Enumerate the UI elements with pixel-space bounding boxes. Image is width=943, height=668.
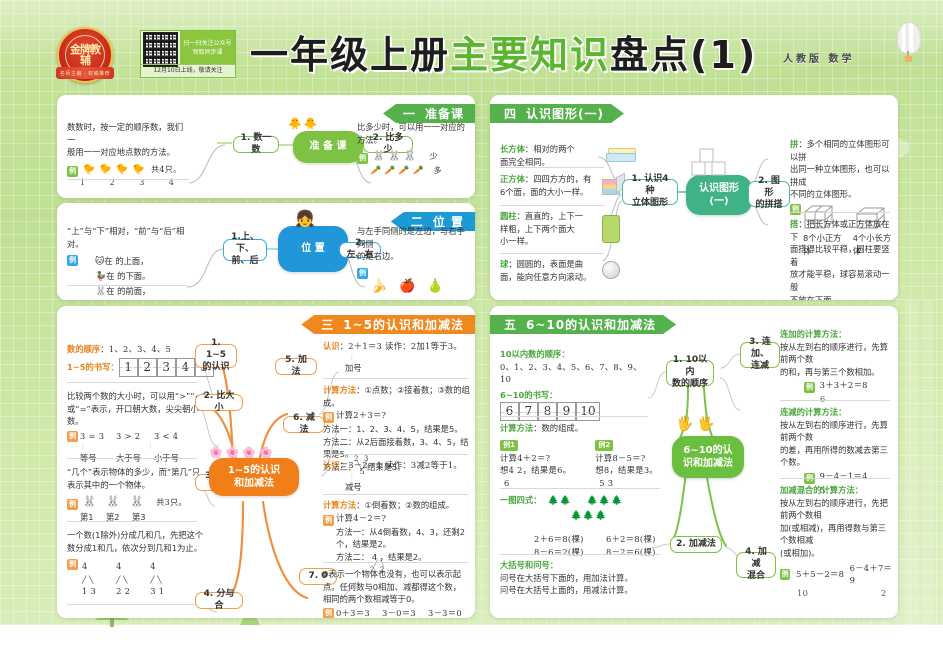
split-left: 1 xyxy=(82,586,88,596)
example-badge: 例 xyxy=(67,255,78,266)
chapter5-four-eq-block: 一图四式： 🌲🌲 🌲🌲🌲 🌲🌲🌲 2＋6＝8(棵) 6＋2＝8(棵) 8－6＝2… xyxy=(500,494,664,559)
know-text: ：2＋1＝3 读作：2加1等于3。 xyxy=(340,341,462,351)
sign-name: 加号 xyxy=(345,362,471,375)
chapter5-compose-block: 计算方法：数的组成。 例1 计算4＋2＝? 想4 2，结果是6。 6 例2 计算… xyxy=(500,422,670,489)
desc: ：四四方方的，有 xyxy=(525,174,591,184)
divider xyxy=(780,400,890,401)
solid-cuboid-text: 长方体：相对的两个 面完全相同。 xyxy=(500,143,612,168)
sphere-icon xyxy=(602,261,620,279)
chapter-card-2: 二 位 置 “上”与“下”相对，“前”与“后”相对。 例 🐱在 的上面， 🦆在 … xyxy=(57,203,475,300)
line: 或“=”表示，开口朝大数，尖尖朝小 xyxy=(67,403,207,416)
chapter-banner-3: 三 1~5的认识和加减法 xyxy=(301,315,475,334)
line: “上”与“下”相对，“前”与“后”相对。 xyxy=(67,225,189,250)
qr-code-icon xyxy=(143,32,178,67)
compose-example-2: 例2 计算8－5＝? 想8，结果是3。 5 3 xyxy=(595,437,658,490)
chapter-card-3: 三 1~5的认识和加减法 xyxy=(57,306,475,618)
keyword: 加减混合的计算方法： xyxy=(780,484,894,497)
keyword: 正方体 xyxy=(500,174,525,184)
expression: 3 > 2 xyxy=(116,430,154,443)
center-node-chapter-5[interactable]: 6~10的认 识和加减法 xyxy=(672,436,744,478)
line: 的是右边。 xyxy=(357,250,469,263)
line: 与左手同侧的是左边，与右手同侧 xyxy=(357,225,469,250)
keyword: 连加的计算方法： xyxy=(780,328,894,341)
qr-code-caption: 扫一扫关注公众号 领取同步课 xyxy=(180,31,235,64)
expression: 6－4＋7＝9 xyxy=(850,562,894,587)
sub-line: 在 的上面， xyxy=(104,256,148,266)
example-badge: 例 xyxy=(67,499,78,510)
line: ：把长方体或正方体放在下 xyxy=(790,219,890,242)
chapter-banner-4: 四 认识图形(一) xyxy=(490,104,624,123)
example-line: 想4 2，结果是6。 xyxy=(500,464,571,477)
line: 的差，再用所得的数减去第三个数。 xyxy=(780,444,894,469)
dot-leader: ⋮ xyxy=(349,472,473,481)
poster-root: 金牌教辅 名师主编 · 权威推荐 扫一扫关注公众号 领取同步课 12月10日上线… xyxy=(0,0,943,668)
keyword: 大括号和问号： xyxy=(500,559,668,572)
divider xyxy=(67,382,197,383)
center-node-line1: 认识图形 xyxy=(699,182,739,196)
branch-label: 2. 加减法 xyxy=(676,539,716,551)
line: 比较两个数的大小时，可以用“>”“<” xyxy=(67,390,207,403)
desc: 面，能向任意方向滚动。 xyxy=(500,271,604,284)
divider xyxy=(67,179,189,180)
digit-cell: 2 xyxy=(138,358,157,377)
line: 0表示一个物体也没有，也可以表示起 xyxy=(323,568,473,581)
sub-line: 在 的下面。 xyxy=(106,271,150,281)
chapter5-brace-block: 大括号和问号： 问号在大括号下面的，用加法计算。 问号在大括号上面的，用减法计算… xyxy=(500,559,668,597)
background-band xyxy=(925,300,933,625)
tree-icons: 🌲🌲 🌲🌲🌲 🌲🌲🌲 xyxy=(548,494,624,523)
line: 数分成1和几，依次分到几和1为止。 xyxy=(67,542,215,555)
center-node-line2: (一) xyxy=(709,195,728,209)
more-label: 多 xyxy=(433,166,441,175)
rabbit-icons: 🐰🐰🐰 xyxy=(373,151,419,162)
digit-cell: 1 xyxy=(119,358,138,377)
divider xyxy=(500,205,604,206)
branch-5-2[interactable]: 2. 加减法 xyxy=(670,536,722,553)
cylinder-icon xyxy=(602,215,620,243)
divider xyxy=(500,416,648,417)
line: 比多少时，可以用一一对应的方法。 xyxy=(357,121,469,146)
digit-cell: 4 xyxy=(176,358,195,377)
qr-side-line1: 扫一扫关注公众号 xyxy=(183,39,231,48)
divider xyxy=(67,521,197,522)
balloon-envelope xyxy=(897,22,921,54)
branch-5-4[interactable]: 4. 加减 混合 xyxy=(736,552,776,578)
chapter3-compare-block: 比较两个数的大小时，可以用“>”“<” 或“=”表示，开口朝大数，尖尖朝小 数。… xyxy=(67,390,207,464)
center-node-label: 准 备 课 xyxy=(310,140,347,154)
rabbit-icons: 🐰🐰🐰 xyxy=(83,495,154,508)
divider xyxy=(500,554,660,555)
split-tree: 4╱ ╲1 3 xyxy=(82,560,96,598)
write-label: 6~10的书写： xyxy=(500,389,650,402)
less-label: 少 xyxy=(430,152,438,161)
chapter5-order-block: 10以内数的顺序： 0、1、2、3、4、5、6、7、8、9、10 6~10的书写… xyxy=(500,348,650,421)
example-result: 共3只。 xyxy=(156,498,186,507)
center-node-line2: 识和加减法 xyxy=(683,457,733,471)
example-badge: 例 xyxy=(323,515,334,526)
equation: 6＋2＝8(棵) xyxy=(606,533,656,546)
order-sequence: ：1、2、3、4、5 xyxy=(100,344,171,354)
desc: ：相对的两个 xyxy=(525,144,575,154)
branch-5-3[interactable]: 3. 连加、 连减 xyxy=(740,342,780,368)
divider xyxy=(500,253,604,254)
center-node-line1: 6~10的认 xyxy=(683,444,732,458)
qr-bottom-caption: 12月10日上线，敬请关注 xyxy=(141,64,235,77)
keyword: 认识 xyxy=(323,460,340,470)
line: 相同的两个数相减等于0。 xyxy=(323,593,473,606)
split-tree: 4╱ ╲2 2 xyxy=(116,560,130,598)
solid-cube-text: 正方体：四四方方的，有 6个面，面的大小一样。 xyxy=(500,173,608,198)
divider xyxy=(780,478,890,479)
line: (或相加)。 xyxy=(780,547,894,560)
expression: 3－0＝3 xyxy=(382,607,428,618)
chapter1-block2-text: 比多少时，可以用一一对应的方法。 例 🐰🐰🐰 少 🥕🥕🥕🥕 多 xyxy=(357,121,469,179)
branch-label-line2: 的认识 xyxy=(202,362,229,374)
branch-3-5[interactable]: 5. 加法 xyxy=(275,358,317,375)
chapter-name: 准备课 xyxy=(425,105,464,122)
expression: 0＋3＝3 xyxy=(336,607,382,618)
chapter-name: 1~5的认识和加减法 xyxy=(343,316,464,333)
line: 按从左到右的顺序进行，先算前两个数 xyxy=(780,341,894,366)
branch-label: 1. 数一数 xyxy=(239,133,273,156)
split-right: 2 xyxy=(125,586,131,596)
branch-label: 2. 比大小 xyxy=(201,391,237,414)
line: 按从左到右的顺序进行，先算前两个数 xyxy=(780,419,894,444)
hands-decoration-icon: 🖐🖐 xyxy=(676,416,719,432)
seal-ribbon: 名师主编 · 权威推荐 xyxy=(56,67,114,79)
keyword: 长方体 xyxy=(500,144,525,154)
qr-code-box[interactable]: 扫一扫关注公众号 领取同步课 12月10日上线，敬请关注 xyxy=(140,30,236,78)
dot-leader: ⋮ xyxy=(349,353,471,362)
digit-cell: 6 xyxy=(500,402,519,421)
method-text: ：①倒着数；②数的组成。 xyxy=(356,500,454,510)
know-text: ：3－2＝1 读作：3减2等于1。 xyxy=(340,460,462,470)
keyword: 数的顺序 xyxy=(67,344,100,354)
branch-label: 4. 分与合 xyxy=(201,589,237,612)
digit-cell: 7 xyxy=(519,402,538,421)
desc: ：数的组成。 xyxy=(533,423,583,433)
chapter-number: 一 xyxy=(403,105,416,122)
branch-label-line2: 立体图形 xyxy=(632,198,668,210)
keyword: 计算方法 xyxy=(323,500,356,510)
chapter3-sub-method: 计算方法：①倒着数；②数的组成。 例计算4－2＝? 方法一：从4倒着数，4、3，… xyxy=(323,499,473,563)
branch-label-line2: 的拼搭 xyxy=(755,200,782,212)
title-part-1: 一年级上册 xyxy=(250,33,450,77)
desc: ：圆圆的，表面是曲 xyxy=(508,259,583,269)
example-badge: 例 xyxy=(790,204,801,215)
branch-label: 6. 减法 xyxy=(289,413,319,436)
split-trees: 4╱ ╲1 3 4╱ ╲2 2 4╱ ╲3 1 xyxy=(82,560,215,598)
chapter3-ordinal-block: “几个”表示物体的多少，而“第几”只 表示其中的一个物体。 例 🐰🐰🐰 共3只。… xyxy=(67,466,209,524)
divider xyxy=(500,167,604,168)
chapter-name: 6~10的认识和加减法 xyxy=(526,316,656,333)
center-node-chapter-3[interactable]: 1~5的认识 和加减法 xyxy=(209,458,299,496)
rabbit-icon: 🐰 xyxy=(95,287,106,297)
line: 🐱在 的上面， xyxy=(95,255,189,270)
fruit-sentence: 🍎在 的左边，在 的右边。 xyxy=(357,299,469,300)
chapter2-block2-text: 与左手同侧的是左边，与右手同侧 的是右边。 例 🍌🍎🍐 🍎在 的左边，在 的右边… xyxy=(357,225,469,300)
line: 放才能平稳，球容易滚动一般 xyxy=(790,268,892,293)
line: 问号在大括号上面的，用减法计算。 xyxy=(500,584,668,597)
split-left: 3 xyxy=(150,586,156,596)
equation: 8－6＝2(棵) xyxy=(534,546,596,559)
line: 🦆在 的下面。 xyxy=(95,270,189,285)
example-badge: 例 xyxy=(323,412,334,423)
divider xyxy=(323,494,468,495)
center-node-line1: 1~5的认识 xyxy=(228,464,280,478)
split-top: 4 xyxy=(150,561,156,571)
desc: 小一样。 xyxy=(500,235,604,248)
sign-name: 减号 xyxy=(345,481,473,494)
branch-1-1[interactable]: 1. 数一数 xyxy=(233,136,279,153)
branch-label-line2: 数的顺序 xyxy=(672,379,708,391)
solid-sphere-text: 球：圆圆的，表面是曲 面，能向任意方向滚动。 xyxy=(500,258,604,283)
edition-label: 人教版 数学 xyxy=(783,50,854,65)
keyword: 连减的计算方法： xyxy=(780,406,894,419)
page-title: 一年级上册主要知识盘点(1) xyxy=(250,30,740,80)
sub-line: 在 的前面， xyxy=(106,286,150,296)
line: 🐢在 的后面。 xyxy=(95,299,189,300)
divider xyxy=(323,562,468,563)
chapter4-stack-block: 搭：把长方体或正方体放在下 面搭得比较平稳，圆柱要竖着 放才能平稳，球容易滚动一… xyxy=(790,218,892,300)
branch-label-line1: 1. 认识4种 xyxy=(628,174,672,197)
line: 加(或相减)，再用得数与第三个数相减 xyxy=(780,522,894,547)
chapter-number: 四 xyxy=(504,105,517,122)
line: 按从左到右的顺序进行，先把前两个数相 xyxy=(780,497,894,522)
desc: ：直直的，上下一 xyxy=(517,211,583,221)
expression: 3 = 3 xyxy=(80,430,116,443)
chapter-name: 认识图形(一) xyxy=(526,105,604,122)
example-badge: 例 xyxy=(67,166,78,177)
chapter3-add-block: 认识：2＋1＝3 读作：2加1等于3。 ⋮ 加号 xyxy=(323,340,471,374)
divider xyxy=(67,604,199,605)
branch-label-line1: 2. 图形 xyxy=(754,176,784,199)
order-sequence: 0、1、2、3、4、5、6、7、8、9、10 xyxy=(500,361,650,386)
branch-3-2[interactable]: 2. 比大小 xyxy=(195,394,243,411)
split-tree: 4╱ ╲3 1 xyxy=(150,560,164,598)
branch-label: 5. 加法 xyxy=(281,355,311,378)
line: 出同一种立体图形，也可以拼成 xyxy=(790,163,892,188)
example-badge: 例 xyxy=(67,431,78,442)
branch-label-line1: 1. 10以内 xyxy=(672,355,708,378)
line: 问号在大括号下面的，用加法计算。 xyxy=(500,572,668,585)
chapter3-zero-block: 0表示一个物体也没有，也可以表示起 点。任何数与0相加、减都得这个数， 相同的两… xyxy=(323,568,473,618)
center-node-chapter-2[interactable]: 位 置 xyxy=(278,226,348,272)
split-left: 2 xyxy=(116,586,122,596)
divider xyxy=(323,454,468,455)
branch-3-1[interactable]: 1. 1~5 的认识 xyxy=(195,344,237,368)
keyword: 计算方法 xyxy=(500,423,533,433)
line: 数。 xyxy=(67,415,207,428)
cuboid-icon xyxy=(606,146,636,162)
split-right: 1 xyxy=(159,586,165,596)
chapter3-split-block: 一个数(1除外)分成几和几，先把这个 数分成1和几，依次分到几和1为止。 例 4… xyxy=(67,529,215,598)
hot-air-balloon-icon xyxy=(895,22,921,68)
expression: 3 < 4 xyxy=(154,430,178,443)
dot-leaders: ⋮ ⋮ ⋮ xyxy=(80,442,207,451)
line: 一个数(1除外)分成几和几，先把这个 xyxy=(67,529,215,542)
duck-icons: 🐤🐤🐤🐤 xyxy=(83,164,149,175)
branch-label-line1: 3. 连加、 xyxy=(746,337,774,360)
branch-label-line2: 混合 xyxy=(747,571,765,583)
keyword: 10以内数的顺序： xyxy=(500,348,650,361)
example-result: 共4只。 xyxy=(151,165,181,174)
chapter-number: 五 xyxy=(504,316,517,333)
chapter3-sub-block: 认识：3－2＝1 读作：3减2等于1。 ⋮ 减号 xyxy=(323,459,473,493)
keyword: 圆柱 xyxy=(500,211,517,221)
example-badge: 例 xyxy=(357,268,368,279)
line: 般用一一对应地点数的方法。 xyxy=(67,146,191,159)
digit-cell: 10 xyxy=(576,402,600,421)
branch-label-line2: 前、后 xyxy=(231,256,258,268)
center-node-line2: 和加减法 xyxy=(234,477,274,491)
expression: 5＋5－2＝8 xyxy=(796,568,849,581)
example-badge: 例 xyxy=(804,382,815,393)
equation: 2＋6＝8(棵) xyxy=(534,533,596,546)
cube-icon xyxy=(602,175,624,195)
chapter-card-5: 五 6~10的认识和加减法 10以内数的顺序： 0、1、2、3、4、5、6、7、… xyxy=(490,306,898,618)
branch-4-1[interactable]: 1. 认识4种 立体图形 xyxy=(622,179,678,205)
brand-seal: 金牌教辅 名师主编 · 权威推荐 xyxy=(57,27,113,83)
branch-3-4[interactable]: 4. 分与合 xyxy=(195,592,243,609)
chapter-card-1: 一 准备课 数数时，按一定的顺序数，我们一 般用一一对应地点数的方法。 例 🐤🐤… xyxy=(57,95,475,198)
branch-5-1[interactable]: 1. 10以内 数的顺序 xyxy=(666,360,714,386)
qr-side-line2: 领取同步课 xyxy=(192,48,222,57)
bird-decoration-icon: 🐥🐥 xyxy=(288,117,319,130)
line: 点。任何数与0相加、减都得这个数， xyxy=(323,581,473,594)
example-badge: 例 xyxy=(67,559,78,570)
branch-2-1[interactable]: 1.上、下、 前、后 xyxy=(223,239,267,261)
branch-label-line1: 1.上、下、 xyxy=(229,232,261,255)
write-label: 1~5的书写： xyxy=(67,361,119,374)
line: “几个”表示物体的多少，而“第几”只 xyxy=(67,466,209,479)
chapter-banner-5: 五 6~10的认识和加减法 xyxy=(490,315,676,334)
digit-cell: 8 xyxy=(538,402,557,421)
split-right: 3 xyxy=(91,586,97,596)
chapter-card-4: 四 认识图形(一) 长方体：相对的两个 面完全相同。 xyxy=(490,95,898,300)
center-node-label: 位 置 xyxy=(301,242,324,256)
expression: 9－4－1＝4 xyxy=(820,471,868,481)
example-line: 想8，结果是3。 xyxy=(595,464,658,477)
sub-result: 10 xyxy=(797,587,855,600)
example-badge: 例 xyxy=(780,569,790,580)
example-question: 计算4－2＝? xyxy=(336,513,386,523)
background-band xyxy=(905,300,919,625)
cubes-decoration-icon xyxy=(690,147,738,181)
title-highlight: 主要知识 xyxy=(450,33,610,77)
fruit-icons: 🍌🍎🍐 xyxy=(371,277,469,297)
example-badge: 例 xyxy=(323,608,334,618)
example-badge: 例1 xyxy=(500,440,518,451)
keyword: 计算方法 xyxy=(323,385,356,395)
example-badge: 例 xyxy=(357,153,368,164)
compose-example-1: 例1 计算4＋2＝? 想4 2，结果是6。 6 xyxy=(500,437,571,490)
divider xyxy=(67,458,197,459)
example-question: 计算8－5＝? xyxy=(595,452,658,465)
girl-avatar-icon: 👧 xyxy=(295,209,315,228)
divider xyxy=(67,285,187,286)
example-badge: 例2 xyxy=(595,440,613,451)
branch-label-line1: 4. 加减 xyxy=(742,547,770,570)
title-part-2: 盘点(1) xyxy=(610,33,757,77)
keyword: 一图四式： xyxy=(500,494,542,507)
line: 数数时，按一定的顺序数，我们一 xyxy=(67,121,191,146)
split-top: 4 xyxy=(116,561,122,571)
line: 表示其中的一个物体。 xyxy=(67,479,209,492)
center-node-chapter-4[interactable]: 认识图形 (一) xyxy=(686,175,752,215)
expression: 3＋3＋2＝8 xyxy=(820,380,868,390)
solid-cylinder-text: 圆柱：直直的，上下一 样粗，上下两个面大 小一样。 xyxy=(500,210,604,248)
line: 不放在下面。 xyxy=(790,294,892,300)
center-node-chapter-1[interactable]: 准 备 课 xyxy=(293,131,363,163)
branch-label-line2: 连减 xyxy=(751,361,769,373)
example-question: 计算4＋2＝? xyxy=(500,452,571,465)
duck-icon: 🦆 xyxy=(95,272,106,282)
branch-label-line1: 1. 1~5 xyxy=(201,338,231,361)
method-line: 方法二：从2后面接着数，3、4、5，结果是5。 xyxy=(323,436,473,461)
method-line: 个，结果是2。 xyxy=(336,538,473,551)
method-line: 方法一：1、2、3、4、5，结果是5。 xyxy=(323,423,473,436)
digit-grid: 678910 xyxy=(500,402,650,421)
divider xyxy=(790,212,890,213)
digit-cell: 9 xyxy=(557,402,576,421)
line: 的和，再与第三个数相加。 xyxy=(780,366,894,379)
carrot-icons: 🥕🥕🥕🥕 xyxy=(370,166,427,176)
line: 面搭得比较平稳，圆柱要竖着 xyxy=(790,243,892,268)
chapter5-mixed-block: 加减混合的计算方法： 按从左到右的顺序进行，先把前两个数相 加(或相减)，再用得… xyxy=(780,484,894,599)
digit-cell: 3 xyxy=(157,358,176,377)
line: 不同的立体图形。 xyxy=(790,188,892,201)
divider xyxy=(500,488,660,489)
branch-3-6[interactable]: 6. 减法 xyxy=(283,416,325,433)
equation: 8－2＝6(棵) xyxy=(606,546,656,559)
chapter-number: 三 xyxy=(321,316,334,333)
line: ：多个相同的立体图形可以拼 xyxy=(790,139,890,162)
tree-trunk xyxy=(110,618,114,627)
divider xyxy=(323,378,468,379)
method-line: 方法一：从4倒着数，4、3，还剩2 xyxy=(336,526,473,539)
branch-4-2[interactable]: 2. 图形 的拼搭 xyxy=(748,181,790,207)
balloon-basket xyxy=(905,56,912,62)
chapter5-chain-add-block: 连加的计算方法： 按从左到右的顺序进行，先算前两个数 的和，再与第三个数相加。 … xyxy=(780,328,894,406)
expression: 3－3＝0 xyxy=(428,607,462,618)
desc: 6个面，面的大小一样。 xyxy=(500,186,608,199)
desc: 样粗，上下两个面大 xyxy=(500,223,604,236)
chapter2-block1-text: “上”与“下”相对，“前”与“后”相对。 例 🐱在 的上面， 🦆在 的下面。 🐰… xyxy=(67,225,189,300)
split-top: 4 xyxy=(82,561,88,571)
line: 🐰在 的前面， xyxy=(95,285,189,300)
cat-icon: 🐱 xyxy=(95,257,104,267)
keyword: 认识 xyxy=(323,341,340,351)
example-question: 计算2＋3＝? xyxy=(336,410,386,420)
sub-result: 2 xyxy=(881,587,887,600)
